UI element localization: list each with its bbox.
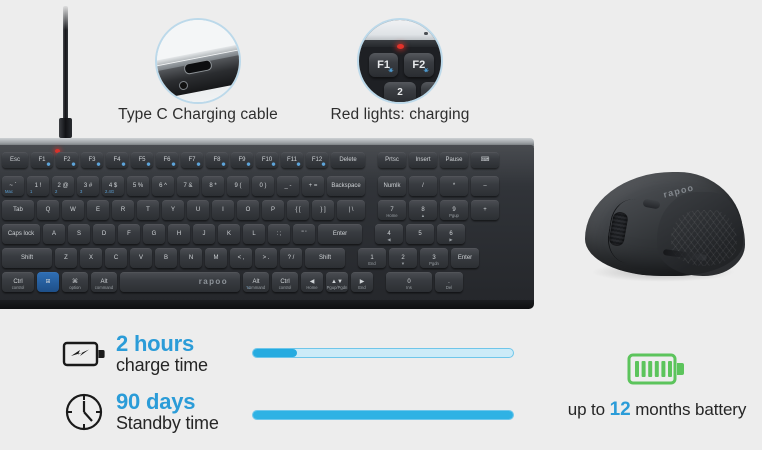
key-4[interactable]: 4◀	[375, 224, 403, 244]
key-x[interactable]: X	[80, 248, 102, 268]
key-3[interactable]: 3 #3	[77, 176, 99, 196]
clock-icon	[56, 388, 112, 436]
key-l[interactable]: L	[243, 224, 265, 244]
key-w[interactable]: W	[62, 200, 84, 220]
key-prtsc[interactable]: Prtsc	[378, 152, 406, 168]
key-sym[interactable]: | \	[337, 200, 365, 220]
key-f11[interactable]: F11⬤	[281, 152, 303, 168]
key-sym[interactable]: < ,	[230, 248, 252, 268]
key-f4[interactable]: F4⬤	[106, 152, 128, 168]
stat-standby-value: 90 days	[116, 390, 219, 413]
key-sym[interactable]: ▶End	[351, 272, 373, 292]
key-i[interactable]: I	[212, 200, 234, 220]
callout-type-c: Type C Charging cable	[155, 18, 241, 104]
key-sym[interactable]: } ]	[312, 200, 334, 220]
key-5[interactable]: 5 %	[127, 176, 149, 196]
key-4[interactable]: 4 $2.4G	[102, 176, 124, 196]
key-3[interactable]: 3Pgdn	[420, 248, 448, 268]
key-k[interactable]: K	[218, 224, 240, 244]
key-2[interactable]: 2 @2	[52, 176, 74, 196]
key-esc[interactable]: Esc	[2, 152, 28, 168]
key-sym[interactable]: –	[471, 176, 499, 196]
key-z[interactable]: Z	[55, 248, 77, 268]
key-enter[interactable]: Enter	[451, 248, 479, 268]
key-e[interactable]: E	[87, 200, 109, 220]
standby-time-progress-bar	[252, 410, 514, 420]
key-8[interactable]: 8 *	[202, 176, 224, 196]
key-0[interactable]: 0Ins	[386, 272, 432, 292]
key-o[interactable]: O	[237, 200, 259, 220]
key-a[interactable]: A	[43, 224, 65, 244]
key-y[interactable]: Y	[162, 200, 184, 220]
key-insert[interactable]: Insert	[409, 152, 437, 168]
key-enter[interactable]: Enter	[318, 224, 362, 244]
key-sym[interactable]: ~ `Mac	[2, 176, 24, 196]
key-d[interactable]: D	[93, 224, 115, 244]
usb-c-port-icon	[155, 18, 241, 104]
key-9[interactable]: 9Pgup	[440, 200, 468, 220]
key-sym[interactable]: ⊞	[37, 272, 59, 292]
stat-standby-label: Standby time	[116, 413, 219, 434]
key-q[interactable]: Q	[37, 200, 59, 220]
key-numlk[interactable]: Numlk	[378, 176, 406, 196]
key-shift[interactable]: Shift	[2, 248, 52, 268]
battery-life-caption: up to 12 months battery	[552, 399, 762, 421]
key-f9[interactable]: F9⬤	[231, 152, 253, 168]
stat-charge-time: 2 hours charge time	[56, 330, 208, 378]
key-pause[interactable]: Pause	[440, 152, 468, 168]
key-p[interactable]: P	[262, 200, 284, 220]
zoom-key-f2: F2⚹	[404, 53, 434, 78]
key-6[interactable]: 6▶	[437, 224, 465, 244]
key-f12[interactable]: F12⬤	[306, 152, 328, 168]
key-backspace[interactable]: Backspace	[327, 176, 365, 196]
cable-fade-mask	[60, 4, 71, 30]
key-f8[interactable]: F8⬤	[206, 152, 228, 168]
key-sym[interactable]: > .	[255, 248, 277, 268]
key-sym[interactable]: ◀Home	[301, 272, 323, 292]
keyboard-brand-logo: rapoo	[199, 278, 228, 286]
charge-time-progress-bar	[252, 348, 514, 358]
key-sym[interactable]: " '	[293, 224, 315, 244]
key-ctrl[interactable]: Ctrlcontrol	[272, 272, 298, 292]
key-sym[interactable]: : ;	[268, 224, 290, 244]
zoom-key-adjacent	[421, 82, 442, 103]
key-alt[interactable]: Altcommand	[91, 272, 117, 292]
stat-charge-label: charge time	[116, 355, 208, 376]
stat-charge-value: 2 hours	[116, 332, 208, 355]
key-f3[interactable]: F3⬤	[81, 152, 103, 168]
key-c[interactable]: C	[105, 248, 127, 268]
key-sym[interactable]: +	[471, 200, 499, 220]
key-r[interactable]: R	[112, 200, 134, 220]
key-capslock[interactable]: Caps lock	[2, 224, 40, 244]
key-sym[interactable]: /	[409, 176, 437, 196]
key-sym[interactable]: _ -	[277, 176, 299, 196]
key-u[interactable]: U	[187, 200, 209, 220]
red-led-indicator-icon: F1⚹ F2⚹ 2	[357, 18, 443, 104]
key-sym[interactable]: ▲▼Pgup/Pgdn	[326, 272, 348, 292]
key-7[interactable]: 7 &	[177, 176, 199, 196]
key-shift[interactable]: Shift	[305, 248, 345, 268]
stat-standby-time: 90 days Standby time	[56, 388, 219, 436]
key-v[interactable]: V	[130, 248, 152, 268]
battery-life-block: up to 12 months battery	[552, 352, 762, 421]
key-2[interactable]: 2▼	[389, 248, 417, 268]
key-sym[interactable]: ⌨	[471, 152, 499, 168]
key-f5[interactable]: F5⬤	[131, 152, 153, 168]
key-9[interactable]: 9 (	[227, 176, 249, 196]
key-j[interactable]: J	[193, 224, 215, 244]
key-alt[interactable]: Alt⌥command	[243, 272, 269, 292]
key-s[interactable]: S	[68, 224, 90, 244]
zoom-key-2: 2	[384, 82, 417, 103]
key-sym[interactable]: { [	[287, 200, 309, 220]
keyboard-row-top-letter-row: TabQWERTYUIOP{ [} ]| \7Home8▲9Pgup+	[2, 200, 499, 220]
key-sym[interactable]: *	[440, 176, 468, 196]
keyboard-row-number-row: ~ `Mac1 !12 @23 #34 $2.4G5 %6 ^7 &8 *9 (…	[2, 176, 499, 196]
key-f2[interactable]: F2⬤	[56, 152, 78, 168]
keyboard-row-bottom-letter-row: ShiftZXCVBNM< ,> .? /Shift1End2▼3PgdnEnt…	[2, 248, 479, 268]
key-delete[interactable]: Delete	[331, 152, 365, 168]
keyboard[interactable]: EscF1⬤F2⬤F3⬤F4⬤F5⬤F6⬤F7⬤F8⬤F9⬤F10⬤F11⬤F1…	[0, 138, 534, 310]
key-tab[interactable]: Tab	[2, 200, 34, 220]
key-0[interactable]: 0 )	[252, 176, 274, 196]
key-ctrl[interactable]: Ctrlcontrol	[2, 272, 34, 292]
charge-time-progress-fill	[253, 349, 297, 357]
key-f6[interactable]: F6⬤	[156, 152, 178, 168]
key-7[interactable]: 7Home	[378, 200, 406, 220]
key-1[interactable]: 1End	[358, 248, 386, 268]
key-f1[interactable]: F1⬤	[31, 152, 53, 168]
key-6[interactable]: 6 ^	[152, 176, 174, 196]
key-8[interactable]: 8▲	[409, 200, 437, 220]
battery-caption-prefix: up to	[568, 400, 610, 419]
callout-red-led: F1⚹ F2⚹ 2 Red lights: charging	[357, 18, 443, 104]
battery-caption-number: 12	[610, 399, 631, 420]
key-sym[interactable]: ? /	[280, 248, 302, 268]
battery-full-green-icon	[627, 352, 687, 386]
keyboard-row-function-row: EscF1⬤F2⬤F3⬤F4⬤F5⬤F6⬤F7⬤F8⬤F9⬤F10⬤F11⬤F1…	[2, 152, 499, 168]
key-n[interactable]: N	[180, 248, 202, 268]
key-f10[interactable]: F10⬤	[256, 152, 278, 168]
keyboard-bottom-edge	[0, 300, 534, 309]
cable-connector-tip	[59, 118, 72, 138]
callout-label-type-c: Type C Charging cable	[118, 106, 278, 124]
key-m[interactable]: M	[205, 248, 227, 268]
key-b[interactable]: B	[155, 248, 177, 268]
battery-caption-suffix: months battery	[631, 400, 747, 419]
zoom-key-f1: F1⚹	[369, 53, 399, 78]
key-sym[interactable]: + =	[302, 176, 324, 196]
key-sym[interactable]: ⌘option	[62, 272, 88, 292]
product-feature-image: Type C Charging cable F1⚹ F2⚹ 2 R	[0, 0, 762, 450]
callout-label-red-led: Red lights: charging	[331, 106, 470, 124]
mouse[interactable]: rapoo	[585, 166, 745, 288]
key-sym[interactable]: .Del	[435, 272, 463, 292]
keyboard-row-modifier-row: Ctrlcontrol⊞⌘optionAltcommandrapooAlt⌥co…	[2, 272, 463, 292]
key-1[interactable]: 1 !1	[27, 176, 49, 196]
key-f7[interactable]: F7⬤	[181, 152, 203, 168]
key-spacebar[interactable]: rapoo	[120, 272, 240, 292]
key-g[interactable]: G	[143, 224, 165, 244]
key-t[interactable]: T	[137, 200, 159, 220]
battery-charging-icon	[56, 330, 112, 378]
key-5[interactable]: 5	[406, 224, 434, 244]
red-led-dot	[397, 44, 404, 49]
key-f[interactable]: F	[118, 224, 140, 244]
keyboard-row-home-row: Caps lockASDFGHJKL: ;" 'Enter4◀56▶	[2, 224, 465, 244]
standby-time-progress-fill	[253, 411, 513, 419]
key-h[interactable]: H	[168, 224, 190, 244]
